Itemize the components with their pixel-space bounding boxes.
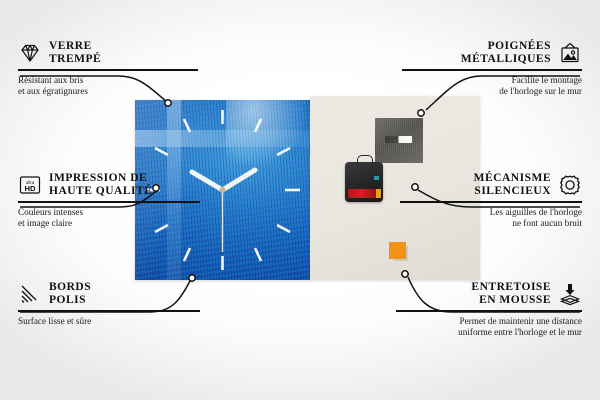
callout-header: BORDS POLIS (18, 281, 200, 307)
callout-rule (18, 310, 200, 312)
callout-title: ENTRETOISE EN MOUSSE (471, 281, 551, 307)
callout-header: ENTRETOISE EN MOUSSE (396, 281, 582, 307)
callout-mecanisme-silencieux: MÉCANISME SILENCIEUX Les aiguilles de l'… (400, 172, 582, 229)
callout-poignees-metalliques: POIGNÉES MÉTALLIQUES Facilite le montage… (402, 40, 582, 97)
callout-description: Résistant aux bris et aux égratignures (18, 75, 198, 97)
callout-description: Permet de maintenir une distance uniform… (396, 316, 582, 338)
callout-header: ultra HD IMPRESSION DE HAUTE QUALITÉ (18, 172, 200, 198)
hanging-frame-icon (558, 41, 582, 65)
callout-description: Couleurs intenses et image claire (18, 207, 200, 229)
connector-endpoint-entretoise (402, 271, 408, 277)
callout-rule (396, 310, 582, 312)
callout-bords-polis: BORDS POLIS Surface lisse et sûre (18, 281, 200, 327)
infographic-canvas: VERRE TREMPÉ Résistant aux bris et aux é… (0, 0, 600, 400)
gear-icon (558, 173, 582, 197)
callout-verre-trempe: VERRE TREMPÉ Résistant aux bris et aux é… (18, 40, 198, 97)
polished-edge-icon (18, 282, 42, 306)
ultra-hd-icon: ultra HD (18, 173, 42, 197)
callout-rule (402, 69, 582, 71)
diamond-icon (18, 41, 42, 65)
callout-header: VERRE TREMPÉ (18, 40, 198, 66)
callout-rule (18, 201, 200, 203)
svg-text:HD: HD (25, 184, 36, 193)
callout-title: VERRE TREMPÉ (49, 40, 101, 66)
callout-header: MÉCANISME SILENCIEUX (400, 172, 582, 198)
callout-title: MÉCANISME SILENCIEUX (474, 172, 551, 198)
callout-title: POIGNÉES MÉTALLIQUES (461, 40, 551, 66)
connector-endpoint-poignees (418, 110, 424, 116)
callout-impression-haute-qualite: ultra HD IMPRESSION DE HAUTE QUALITÉ Cou… (18, 172, 200, 229)
callout-title: BORDS POLIS (49, 281, 91, 307)
connector-endpoint-verre (165, 100, 171, 106)
callout-rule (400, 201, 582, 203)
callout-header: POIGNÉES MÉTALLIQUES (402, 40, 582, 66)
callout-rule (18, 69, 198, 71)
foam-spacer-icon (558, 282, 582, 306)
callout-description: Facilite le montage de l'horloge sur le … (402, 75, 582, 97)
callout-description: Surface lisse et sûre (18, 316, 200, 327)
callout-entretoise-en-mousse: ENTRETOISE EN MOUSSE Permet de maintenir… (396, 281, 582, 338)
callout-title: IMPRESSION DE HAUTE QUALITÉ (49, 172, 152, 198)
callout-description: Les aiguilles de l'horloge ne font aucun… (400, 207, 582, 229)
